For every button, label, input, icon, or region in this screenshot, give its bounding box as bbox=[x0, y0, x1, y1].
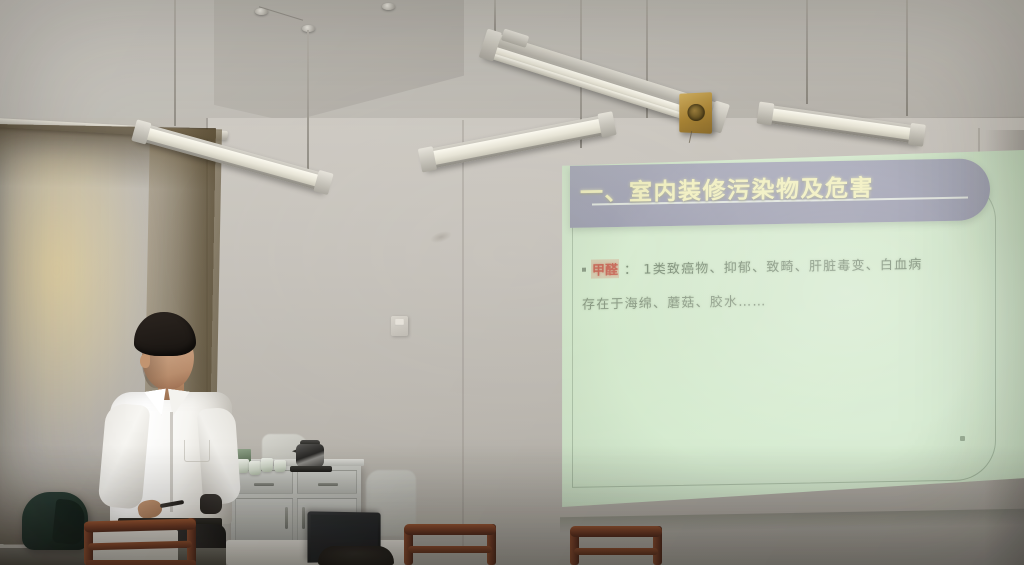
suspension-rod bbox=[806, 0, 808, 104]
light-switch-rocker[interactable] bbox=[395, 319, 404, 326]
speaker-cone bbox=[687, 104, 704, 121]
wall-speaker-icon bbox=[679, 92, 712, 134]
slide-bullet-keyword: 甲醛 bbox=[591, 259, 619, 279]
light-switch[interactable] bbox=[391, 316, 408, 336]
slide-corner-mark bbox=[960, 436, 965, 441]
fixture-endcap bbox=[908, 123, 926, 147]
slide-bullet-separator: ： bbox=[624, 259, 638, 278]
classroom-photo: 一、室内装修污染物及危害 甲醛 ： 1类致癌物、抑郁、致畸、肝脏毒变、白血病 存… bbox=[0, 0, 1024, 565]
presenter-ear bbox=[140, 354, 150, 368]
ceiling-mount bbox=[382, 3, 395, 10]
ambient-shadow bbox=[0, 445, 1024, 565]
fixture-endcap bbox=[757, 102, 775, 126]
suspension-rod bbox=[906, 0, 908, 116]
bullet-point-icon bbox=[582, 268, 586, 272]
presenter-hair bbox=[134, 312, 196, 356]
suspension-rod bbox=[174, 0, 176, 126]
suspension-rod bbox=[307, 30, 309, 170]
